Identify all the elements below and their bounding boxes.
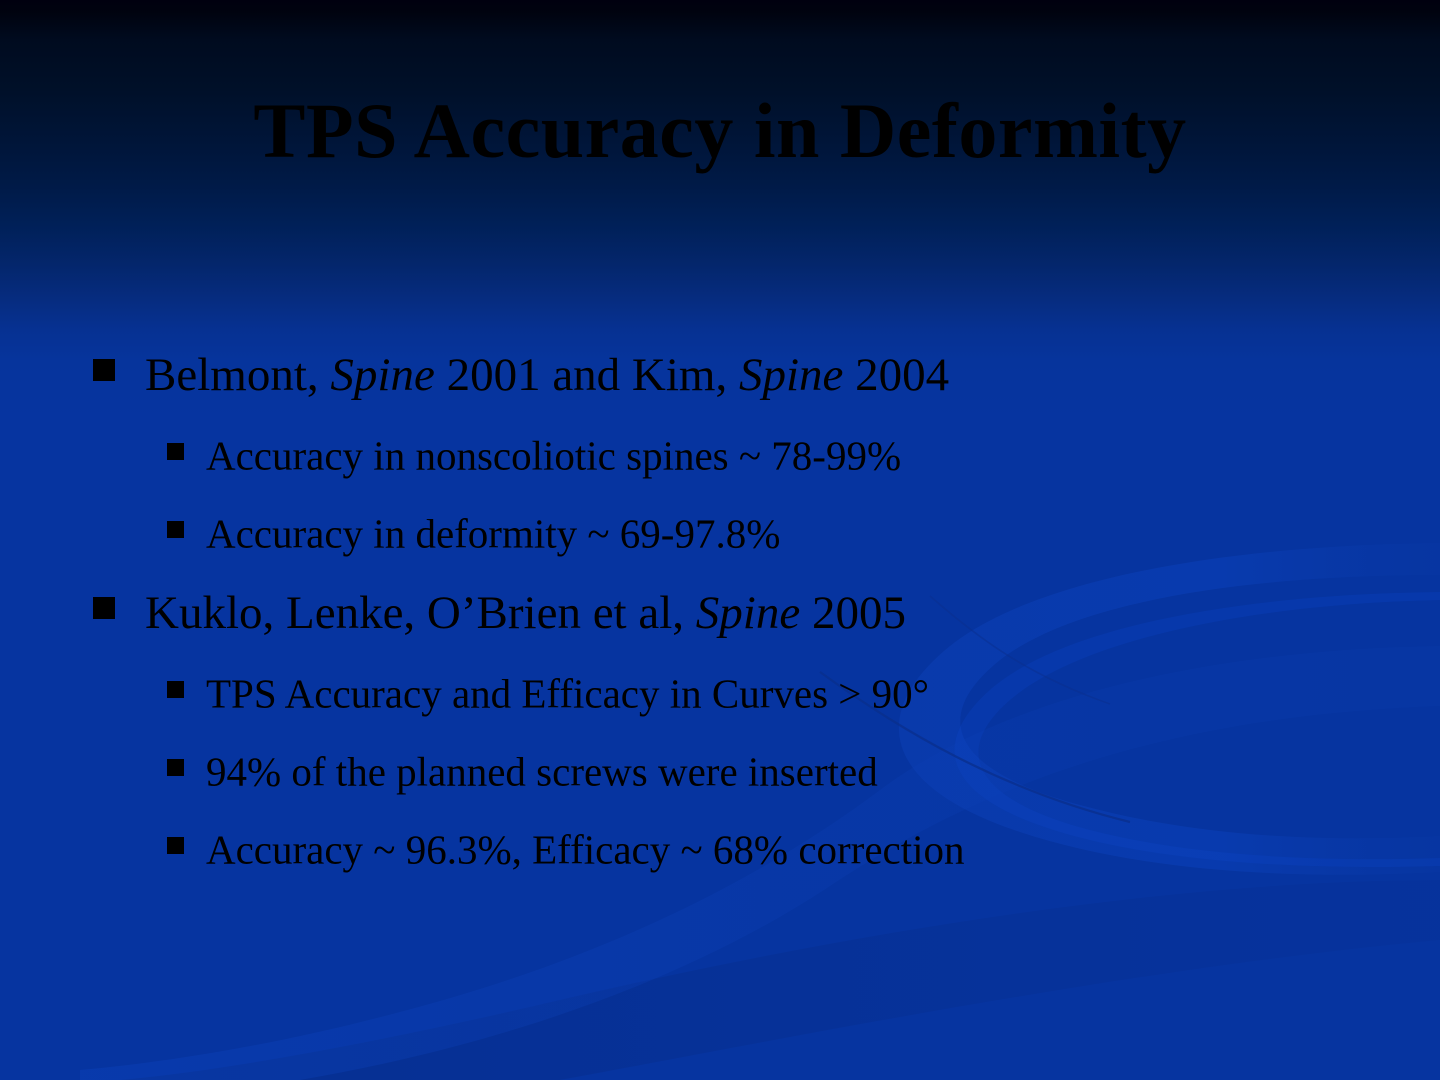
square-bullet-icon xyxy=(93,359,115,381)
bullet-belmont-kim: Belmont, Spine 2001 and Kim, Spine 2004 xyxy=(0,330,1440,412)
bullet-belmont-kim-text: Belmont, Spine 2001 and Kim, Spine 2004 xyxy=(145,349,949,401)
bullet-kuklo-lenke-obrien-part-2: 2005 xyxy=(800,587,906,639)
bullet-accuracy-nonscoliotic: Accuracy in nonscoliotic spines ~ 78-99% xyxy=(0,412,1440,490)
presentation-slide: TPS Accuracy in Deformity Belmont, Spine… xyxy=(0,0,1440,1080)
bullet-belmont-kim-part-0: Belmont, xyxy=(145,349,330,401)
bullet-accuracy-deformity: Accuracy in deformity ~ 69-97.8% xyxy=(0,490,1440,568)
bullet-planned-screws-text: 94% of the planned screws were inserted xyxy=(206,749,878,795)
bullet-belmont-kim-part-2: 2001 and Kim, xyxy=(435,349,739,401)
bullet-planned-screws: 94% of the planned screws were inserted xyxy=(0,728,1440,806)
bullet-accuracy-nonscoliotic-text: Accuracy in nonscoliotic spines ~ 78-99% xyxy=(206,433,901,479)
square-bullet-icon xyxy=(167,521,184,538)
bullet-kuklo-lenke-obrien-part-1: Spine xyxy=(696,587,800,639)
slide-body: Belmont, Spine 2001 and Kim, Spine 2004A… xyxy=(0,330,1440,884)
square-bullet-icon xyxy=(167,837,184,854)
bullet-belmont-kim-part-4: 2004 xyxy=(843,349,949,401)
bullet-accuracy-efficacy-correction: Accuracy ~ 96.3%, Efficacy ~ 68% correct… xyxy=(0,806,1440,884)
bullet-tps-accuracy-efficacy: TPS Accuracy and Efficacy in Curves > 90… xyxy=(0,650,1440,728)
bullet-planned-screws-part-0: 94% of the planned screws were inserted xyxy=(206,749,878,795)
bullet-kuklo-lenke-obrien-text: Kuklo, Lenke, O’Brien et al, Spine 2005 xyxy=(145,587,906,639)
bullet-accuracy-efficacy-correction-part-0: Accuracy ~ 96.3%, Efficacy ~ 68% correct… xyxy=(206,827,965,873)
bullet-accuracy-efficacy-correction-text: Accuracy ~ 96.3%, Efficacy ~ 68% correct… xyxy=(206,827,965,873)
bullet-accuracy-nonscoliotic-part-0: Accuracy in nonscoliotic spines ~ 78-99% xyxy=(206,433,901,479)
bullet-tps-accuracy-efficacy-part-0: TPS Accuracy and Efficacy in Curves > 90… xyxy=(206,671,929,717)
bullet-accuracy-deformity-text: Accuracy in deformity ~ 69-97.8% xyxy=(206,511,780,557)
swoosh-ribbon-lower xyxy=(120,880,1440,1080)
bullet-belmont-kim-part-1: Spine xyxy=(330,349,434,401)
square-bullet-icon xyxy=(167,759,184,776)
bullet-kuklo-lenke-obrien-part-0: Kuklo, Lenke, O’Brien et al, xyxy=(145,587,696,639)
bullet-accuracy-deformity-part-0: Accuracy in deformity ~ 69-97.8% xyxy=(206,511,780,557)
bullet-tps-accuracy-efficacy-text: TPS Accuracy and Efficacy in Curves > 90… xyxy=(206,671,929,717)
slide-title: TPS Accuracy in Deformity xyxy=(0,92,1440,170)
bullet-belmont-kim-part-3: Spine xyxy=(739,349,843,401)
bullet-kuklo-lenke-obrien: Kuklo, Lenke, O’Brien et al, Spine 2005 xyxy=(0,568,1440,650)
square-bullet-icon xyxy=(167,681,184,698)
square-bullet-icon xyxy=(167,443,184,460)
square-bullet-icon xyxy=(93,597,115,619)
